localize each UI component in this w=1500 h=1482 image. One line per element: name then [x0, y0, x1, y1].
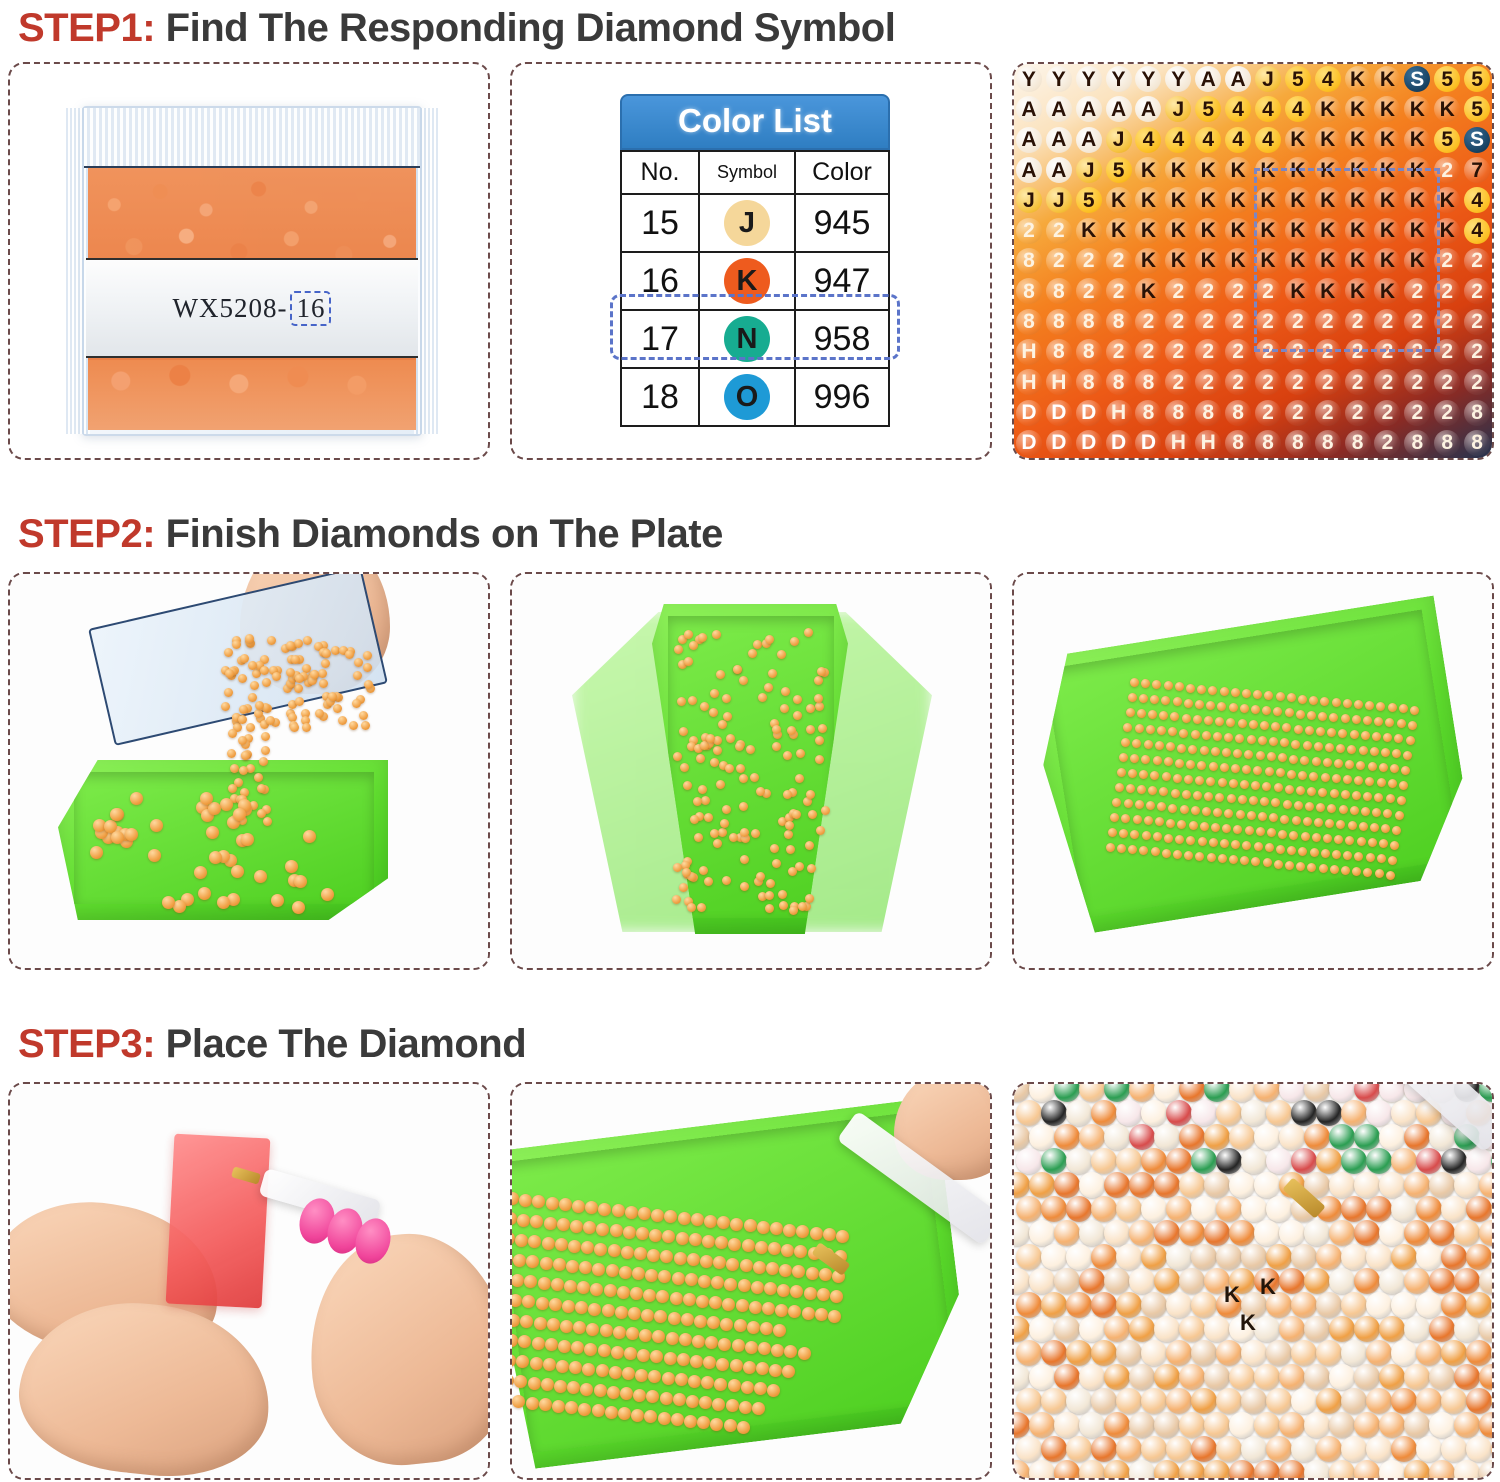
diamond-bead-placed [1266, 1100, 1292, 1126]
symbol-cell: K [1223, 246, 1253, 276]
diamond-bead-aligned [1247, 735, 1256, 744]
symbol-char: H [1051, 372, 1066, 393]
symbol-char: 5 [1202, 99, 1214, 120]
symbol-cell: K [1313, 125, 1343, 155]
diamond-bead-aligned [1200, 822, 1209, 831]
symbol-char: 2 [1113, 281, 1125, 302]
diamond-bead-placed [1229, 1460, 1255, 1478]
symbol-cell: 2 [1313, 337, 1343, 367]
diamond-bead-placed [1154, 1220, 1180, 1246]
diamond-bead-in-tray [710, 689, 719, 698]
diamond-bead-aligned [1370, 747, 1379, 756]
symbol-cell: 2 [1432, 276, 1462, 306]
symbol-cell: K [1134, 185, 1164, 215]
symbol-cell: K [1223, 216, 1253, 246]
diamond-bead-aligned [555, 1238, 568, 1251]
symbol-cell: 2 [1193, 337, 1223, 367]
symbol-cell: 2 [1104, 246, 1134, 276]
symbol-cell: 4 [1223, 94, 1253, 124]
diamond-bead-aligned [568, 1240, 581, 1253]
diamond-bead-placed [1279, 1412, 1305, 1438]
diamond-bead-placed [1229, 1220, 1255, 1246]
symbol-char: K [1260, 220, 1275, 241]
symbol-char: 2 [1083, 281, 1095, 302]
symbol-char: K [1440, 99, 1455, 120]
diamond-bead-aligned [1332, 698, 1341, 707]
symbol-char: K [1290, 129, 1305, 150]
diamond-bead-placed [1054, 1412, 1080, 1438]
symbol-cell: J [1104, 125, 1134, 155]
diamond-bead-placed [1229, 1412, 1255, 1438]
diamond-bead-falling [228, 729, 237, 738]
diamond-bead-aligned [781, 1244, 794, 1257]
diamond-bead-aligned [1343, 699, 1352, 708]
diamond-bead-placed [1216, 1388, 1242, 1414]
symbol-char: K [1111, 220, 1126, 241]
diamond-bead-placed [1454, 1220, 1480, 1246]
diamond-bead-aligned [1213, 732, 1222, 741]
diamond-bead-aligned [596, 1364, 609, 1377]
diamond-bead-in-bag [349, 721, 358, 730]
diamond-bead-aligned [679, 1333, 692, 1346]
diamond-bead-falling [261, 732, 270, 741]
diamond-bead-in-tray [110, 808, 123, 821]
symbol-cell: K [1432, 216, 1462, 246]
diamond-bead-in-bag [272, 672, 281, 681]
symbol-cell: 8 [1104, 367, 1134, 397]
diamond-bead-in-tray [756, 872, 765, 881]
diamond-bead-in-bag [361, 721, 370, 730]
diamond-bead-placed [1404, 1268, 1430, 1294]
symbol-cell: A [1014, 155, 1044, 185]
diamond-bead-placed [1079, 1172, 1105, 1198]
diamond-bead-placed [1279, 1268, 1305, 1294]
symbol-char: 8 [1083, 341, 1095, 362]
diamond-bead-aligned [1357, 837, 1366, 846]
diamond-bead-aligned [1323, 834, 1332, 843]
diamond-bead-placed [1454, 1460, 1480, 1478]
diamond-bead-in-bag [286, 641, 295, 650]
diamond-bead-placed [1291, 1388, 1317, 1414]
symbol-cell: 2 [1402, 397, 1432, 427]
symbol-cell: 8 [1163, 397, 1193, 427]
diamond-bead-aligned [836, 1230, 849, 1243]
symbol-cell: 4 [1462, 185, 1492, 215]
diamond-bead-aligned [694, 1315, 707, 1328]
diamond-bead-aligned [687, 1253, 700, 1266]
diamond-bead-placed [1391, 1244, 1417, 1270]
symbol-cell: 8 [1223, 397, 1253, 427]
symbol-char: 2 [1172, 341, 1184, 362]
diamond-bead-aligned [534, 1317, 547, 1330]
diamond-bead-aligned [1403, 751, 1412, 760]
diamond-bead-aligned [1195, 776, 1204, 785]
diamond-bead-aligned [1119, 753, 1128, 762]
row-no: 17 [621, 310, 699, 368]
diamond-bead-aligned [1361, 731, 1370, 740]
symbol-char: 2 [1262, 402, 1274, 423]
diamond-bead-placed [1429, 1220, 1455, 1246]
diamond-bead-aligned [1386, 871, 1395, 880]
symbol-cell: K [1283, 246, 1313, 276]
diamond-bead-in-tray [209, 851, 222, 864]
diamond-bead-aligned [1106, 843, 1115, 852]
diamond-bead-placed [1116, 1292, 1142, 1318]
diamond-bead-in-tray [162, 896, 175, 909]
diamond-bead-placed [1441, 1292, 1467, 1318]
diamond-bead-placed [1204, 1124, 1230, 1150]
shake-scene [512, 574, 990, 968]
symbol-char: K [1141, 281, 1156, 302]
symbol-char: 8 [1471, 402, 1483, 423]
symbol-char: 8 [1441, 432, 1453, 453]
symbol-cell: D [1044, 397, 1074, 427]
symbol-cell: K [1193, 246, 1223, 276]
diamond-bead-placed [1441, 1244, 1467, 1270]
symbol-char: 2 [1262, 341, 1274, 362]
symbol-cell: K [1193, 185, 1223, 215]
symbol-cell: H [1014, 337, 1044, 367]
diamond-bead-placed [1479, 1220, 1492, 1246]
diamond-bead-placed [1341, 1388, 1367, 1414]
diamond-bead-placed [1491, 1148, 1492, 1174]
diamond-bead-placed [1041, 1292, 1067, 1318]
diamond-bead-aligned [610, 1224, 623, 1237]
row-color: 947 [795, 252, 889, 310]
diamond-bead-aligned [1314, 818, 1323, 827]
diamond-bead-placed [1041, 1148, 1067, 1174]
diamond-bead-aligned [1359, 822, 1368, 831]
diamond-bead-placed [1054, 1364, 1080, 1390]
row-color: 996 [795, 368, 889, 426]
diamond-bead-aligned [600, 1324, 613, 1337]
diamond-bead-aligned [1126, 784, 1135, 793]
diamond-bead-placed [1091, 1436, 1117, 1462]
diamond-bead-aligned [1287, 770, 1296, 779]
symbol-char: 2 [1262, 281, 1274, 302]
symbol-char: K [1290, 160, 1305, 181]
diamond-bead-aligned [559, 1198, 572, 1211]
diamond-bead-aligned [615, 1306, 628, 1319]
symbol-char: K [1350, 69, 1365, 90]
diamond-bead-placed [1354, 1268, 1380, 1294]
diamond-bead-placed [1014, 1364, 1030, 1390]
diamond-bead-aligned [1164, 681, 1173, 690]
diamond-bead-placed [1191, 1436, 1217, 1462]
symbol-char: A [1021, 99, 1036, 120]
symbol-cell: 2 [1462, 246, 1492, 276]
diamond-bead-placed [1316, 1148, 1342, 1174]
diamond-bead-placed [1341, 1292, 1367, 1318]
diamond-bead-aligned [544, 1217, 557, 1230]
pour-scene [10, 574, 488, 968]
diamond-bead-placed [1166, 1100, 1192, 1126]
diamond-bead-aligned [1276, 845, 1285, 854]
diamond-bead-placed [1204, 1364, 1230, 1390]
diamond-bead-in-tray [709, 708, 718, 717]
diamond-bead-placed [1391, 1292, 1417, 1318]
diamond-bead-placed [1104, 1172, 1130, 1198]
diamond-bead-placed [1291, 1292, 1317, 1318]
diamond-bead-placed [1014, 1412, 1030, 1438]
diamond-bead-placed [1116, 1244, 1142, 1270]
diamond-bead-aligned [1202, 731, 1211, 740]
symbol-char: K [1320, 190, 1335, 211]
symbol-cell: K [1402, 125, 1432, 155]
row-no: 18 [621, 368, 699, 426]
diamond-bead-aligned [1294, 801, 1303, 810]
diamond-bead-placed [1379, 1124, 1405, 1150]
diamond-bead-placed [1154, 1124, 1180, 1150]
diamond-bead-aligned [1179, 729, 1188, 738]
diamond-bead-in-tray [772, 859, 781, 868]
symbol-char: K [1141, 250, 1156, 271]
symbol-cell: 2 [1283, 306, 1313, 336]
symbol-char: 2 [1143, 341, 1155, 362]
symbol-char: K [1410, 190, 1425, 211]
symbol-char: 8 [1232, 432, 1244, 453]
diamond-bead-aligned [515, 1234, 528, 1247]
diamond-bead-in-tray [233, 808, 246, 821]
diamond-bead-in-bag [328, 692, 337, 701]
symbol-char: 4 [1232, 129, 1244, 150]
bag-label: WX5208- 16 [86, 258, 418, 358]
diamond-bead-placed [1054, 1460, 1080, 1478]
diamond-bead-in-tray [713, 839, 722, 848]
diamond-bead-placed [1354, 1460, 1380, 1478]
symbol-char: K [1350, 129, 1365, 150]
diamond-bead-placed [1129, 1172, 1155, 1198]
symbol-cell: 2 [1373, 428, 1403, 458]
symbol-char: 2 [1382, 402, 1394, 423]
symbol-cell: A [1044, 94, 1074, 124]
symbol-char: 2 [1113, 341, 1125, 362]
symbol-char: 2 [1441, 311, 1453, 332]
diamond-bead-placed [1179, 1172, 1205, 1198]
diamond-bead-in-tray [704, 877, 713, 886]
diamond-bead-placed [1129, 1268, 1155, 1294]
bag-scene: WX5208- 16 [10, 64, 488, 458]
diamond-bead-placed [1016, 1436, 1042, 1462]
symbol-cell: A [1074, 125, 1104, 155]
symbol-char: 2 [1113, 250, 1125, 271]
symbol-char: A [1051, 99, 1066, 120]
symbol-char: K [1380, 250, 1395, 271]
diamond-bead-aligned [1323, 758, 1332, 767]
diamond-bead-aligned [1321, 849, 1330, 858]
diamond-bead-placed [1104, 1460, 1130, 1478]
diamond-bead-in-bag [255, 701, 264, 710]
symbol-cell: K [1373, 276, 1403, 306]
symbol-char: 8 [1053, 281, 1065, 302]
diamond-bead-in-bag [338, 716, 347, 725]
diamond-bead-placed [1129, 1124, 1155, 1150]
diamond-bead-aligned [668, 1312, 681, 1325]
tray-inner [1044, 610, 1461, 919]
diamond-bead-aligned [802, 1307, 815, 1320]
symbol-cell: D [1074, 397, 1104, 427]
symbol-char: 5 [1471, 99, 1483, 120]
diamond-bead-placed [1029, 1412, 1055, 1438]
symbol-char: 8 [1262, 432, 1274, 453]
symbol-cell: 2 [1432, 337, 1462, 367]
symbol-char: K [1171, 250, 1186, 271]
diamond-bead-in-tray [796, 749, 805, 758]
diamond-bead-aligned [1227, 794, 1236, 803]
symbol-cell: K [1343, 276, 1373, 306]
diamond-bead-in-tray [684, 657, 693, 666]
symbol-cell: K [1313, 276, 1343, 306]
symbol-char: K [1141, 190, 1156, 211]
symbol-char: 8 [1143, 372, 1155, 393]
diamond-bead-placed [1229, 1172, 1255, 1198]
panel-shake-tray [510, 572, 992, 970]
diamond-bead-aligned [536, 1297, 549, 1310]
symbol-char: 4 [1292, 99, 1304, 120]
diamond-bead-aligned [1334, 759, 1343, 768]
diamond-bead-placed [1014, 1172, 1030, 1198]
symbol-cell: 2 [1104, 337, 1134, 367]
diamond-bead-placed [1491, 1244, 1492, 1270]
diamond-bead-aligned [606, 1264, 619, 1277]
color-list-header: Color List [620, 94, 890, 150]
diamond-bead-aligned [617, 1286, 630, 1299]
symbol-cell: K [1402, 94, 1432, 124]
diamond-bead-placed [1141, 1100, 1167, 1126]
diamond-bead-aligned [684, 1415, 697, 1428]
symbol-cell: K [1193, 216, 1223, 246]
symbol-cell: 5 [1074, 185, 1104, 215]
diamond-bead-aligned [1399, 781, 1408, 790]
diamond-bead-placed [1141, 1340, 1167, 1366]
symbol-cell: K [1343, 246, 1373, 276]
symbol-char: 2 [1232, 372, 1244, 393]
diamond-bead-aligned [760, 1322, 773, 1335]
symbol-char: 2 [1441, 341, 1453, 362]
diamond-bead-aligned [588, 1303, 601, 1316]
diamond-bead-aligned [549, 1298, 562, 1311]
diamond-bead-placed [1429, 1460, 1455, 1478]
diamond-bead-placed [1266, 1244, 1292, 1270]
diamond-bead-placed [1404, 1172, 1430, 1198]
diamond-bead-in-tray [697, 903, 706, 912]
diamond-bead-in-tray [723, 712, 732, 721]
diamond-bead-placed [1129, 1316, 1155, 1342]
step3-label: STEP3: [18, 1022, 155, 1066]
symbol-char: K [1410, 99, 1425, 120]
symbol-char: 8 [1113, 372, 1125, 393]
symbol-char: A [1201, 69, 1216, 90]
diamond-bead-placed [1029, 1124, 1055, 1150]
diamond-bead-placed [1166, 1196, 1192, 1222]
diamond-bead-aligned [1301, 832, 1310, 841]
diamond-bead-in-tray [772, 742, 781, 751]
symbol-cell: K [1223, 155, 1253, 185]
symbol-char: 2 [1292, 341, 1304, 362]
symbol-cell: 2 [1343, 337, 1373, 367]
diamond-bead-placed [1279, 1316, 1305, 1342]
diamond-bead-aligned [1339, 805, 1348, 814]
symbol-char: 8 [1172, 402, 1184, 423]
diamond-bead-aligned [590, 1283, 603, 1296]
diamond-bead-aligned [560, 1320, 573, 1333]
diamond-bead-aligned [764, 1282, 777, 1295]
diamond-bead-placed [1091, 1340, 1117, 1366]
diamond-bead-placed [1291, 1340, 1317, 1366]
symbol-cell: K [1373, 64, 1403, 94]
table-row: 16 K 947 [621, 252, 889, 310]
diamond-bead-aligned [623, 1226, 636, 1239]
symbol-cell: 8 [1134, 397, 1164, 427]
symbol-cell: 8 [1402, 428, 1432, 458]
symbol-char: A [1230, 69, 1245, 90]
diamond-bead-aligned [1368, 762, 1377, 771]
diamond-bead-aligned [612, 1204, 625, 1217]
diamond-bead-aligned [830, 1290, 843, 1303]
symbol-char: 2 [1441, 372, 1453, 393]
diamond-bead-aligned [757, 1221, 770, 1234]
diamond-bead-aligned [1182, 790, 1191, 799]
diamond-bead-in-bag [294, 639, 303, 648]
diamond-bead-placed [1354, 1412, 1380, 1438]
diamond-bead-placed [1266, 1436, 1292, 1462]
diamond-bead-in-bag [291, 655, 300, 664]
diamond-bead-aligned [592, 1404, 605, 1417]
diamond-bead-aligned [1220, 839, 1229, 848]
diamond-bead-aligned [678, 1212, 691, 1225]
diamond-bead-aligned [1162, 849, 1171, 858]
symbol-cell: 2 [1402, 367, 1432, 397]
symbol-char: H [1201, 432, 1216, 453]
diamond-bead-in-bag [238, 674, 247, 683]
diamond-bead-placed [1066, 1148, 1092, 1174]
diamond-bead-placed [1291, 1148, 1317, 1174]
symbol-cell: K [1283, 125, 1313, 155]
diamond-bead-placed [1354, 1316, 1380, 1342]
diamond-bead-aligned [556, 1360, 569, 1373]
symbol-cell: K [1104, 216, 1134, 246]
diamond-bead-aligned [762, 1302, 775, 1315]
diamond-bead-placed [1241, 1436, 1267, 1462]
symbol-char: K [1350, 281, 1365, 302]
diamond-bead-in-tray [712, 630, 721, 639]
symbol-char: 2 [1352, 311, 1364, 332]
diamond-bead-in-tray [726, 734, 735, 743]
symbol-char: Y [1022, 69, 1036, 90]
diamond-bead-aligned [753, 1261, 766, 1274]
symbol-cell: 2 [1283, 397, 1313, 427]
diamond-bead-aligned [628, 1307, 641, 1320]
diamond-bead-aligned [643, 1289, 656, 1302]
diamond-bead-aligned [1130, 678, 1139, 687]
symbol-cell: 8 [1044, 337, 1074, 367]
diamond-bead-placed [1079, 1268, 1105, 1294]
step3-heading: STEP3: Place The Diamond [18, 1024, 526, 1064]
diamond-bead-placed [1066, 1388, 1092, 1414]
diamond-bead-in-tray [765, 904, 774, 913]
diamond-bead-placed [1429, 1172, 1455, 1198]
diamond-bead-in-bag [322, 649, 331, 658]
diamond-bead-in-tray [150, 819, 163, 832]
diamond-bead-in-tray [704, 813, 713, 822]
step3-title: Place The Diamond [166, 1022, 526, 1066]
diamond-bead-placed [1066, 1436, 1092, 1462]
diamond-bead-placed [1491, 1436, 1492, 1462]
symbol-char: S [1470, 129, 1484, 150]
diamond-bead-in-tray [206, 826, 219, 839]
diamond-bead-aligned [1309, 696, 1318, 705]
diamond-bead-aligned [1294, 725, 1303, 734]
